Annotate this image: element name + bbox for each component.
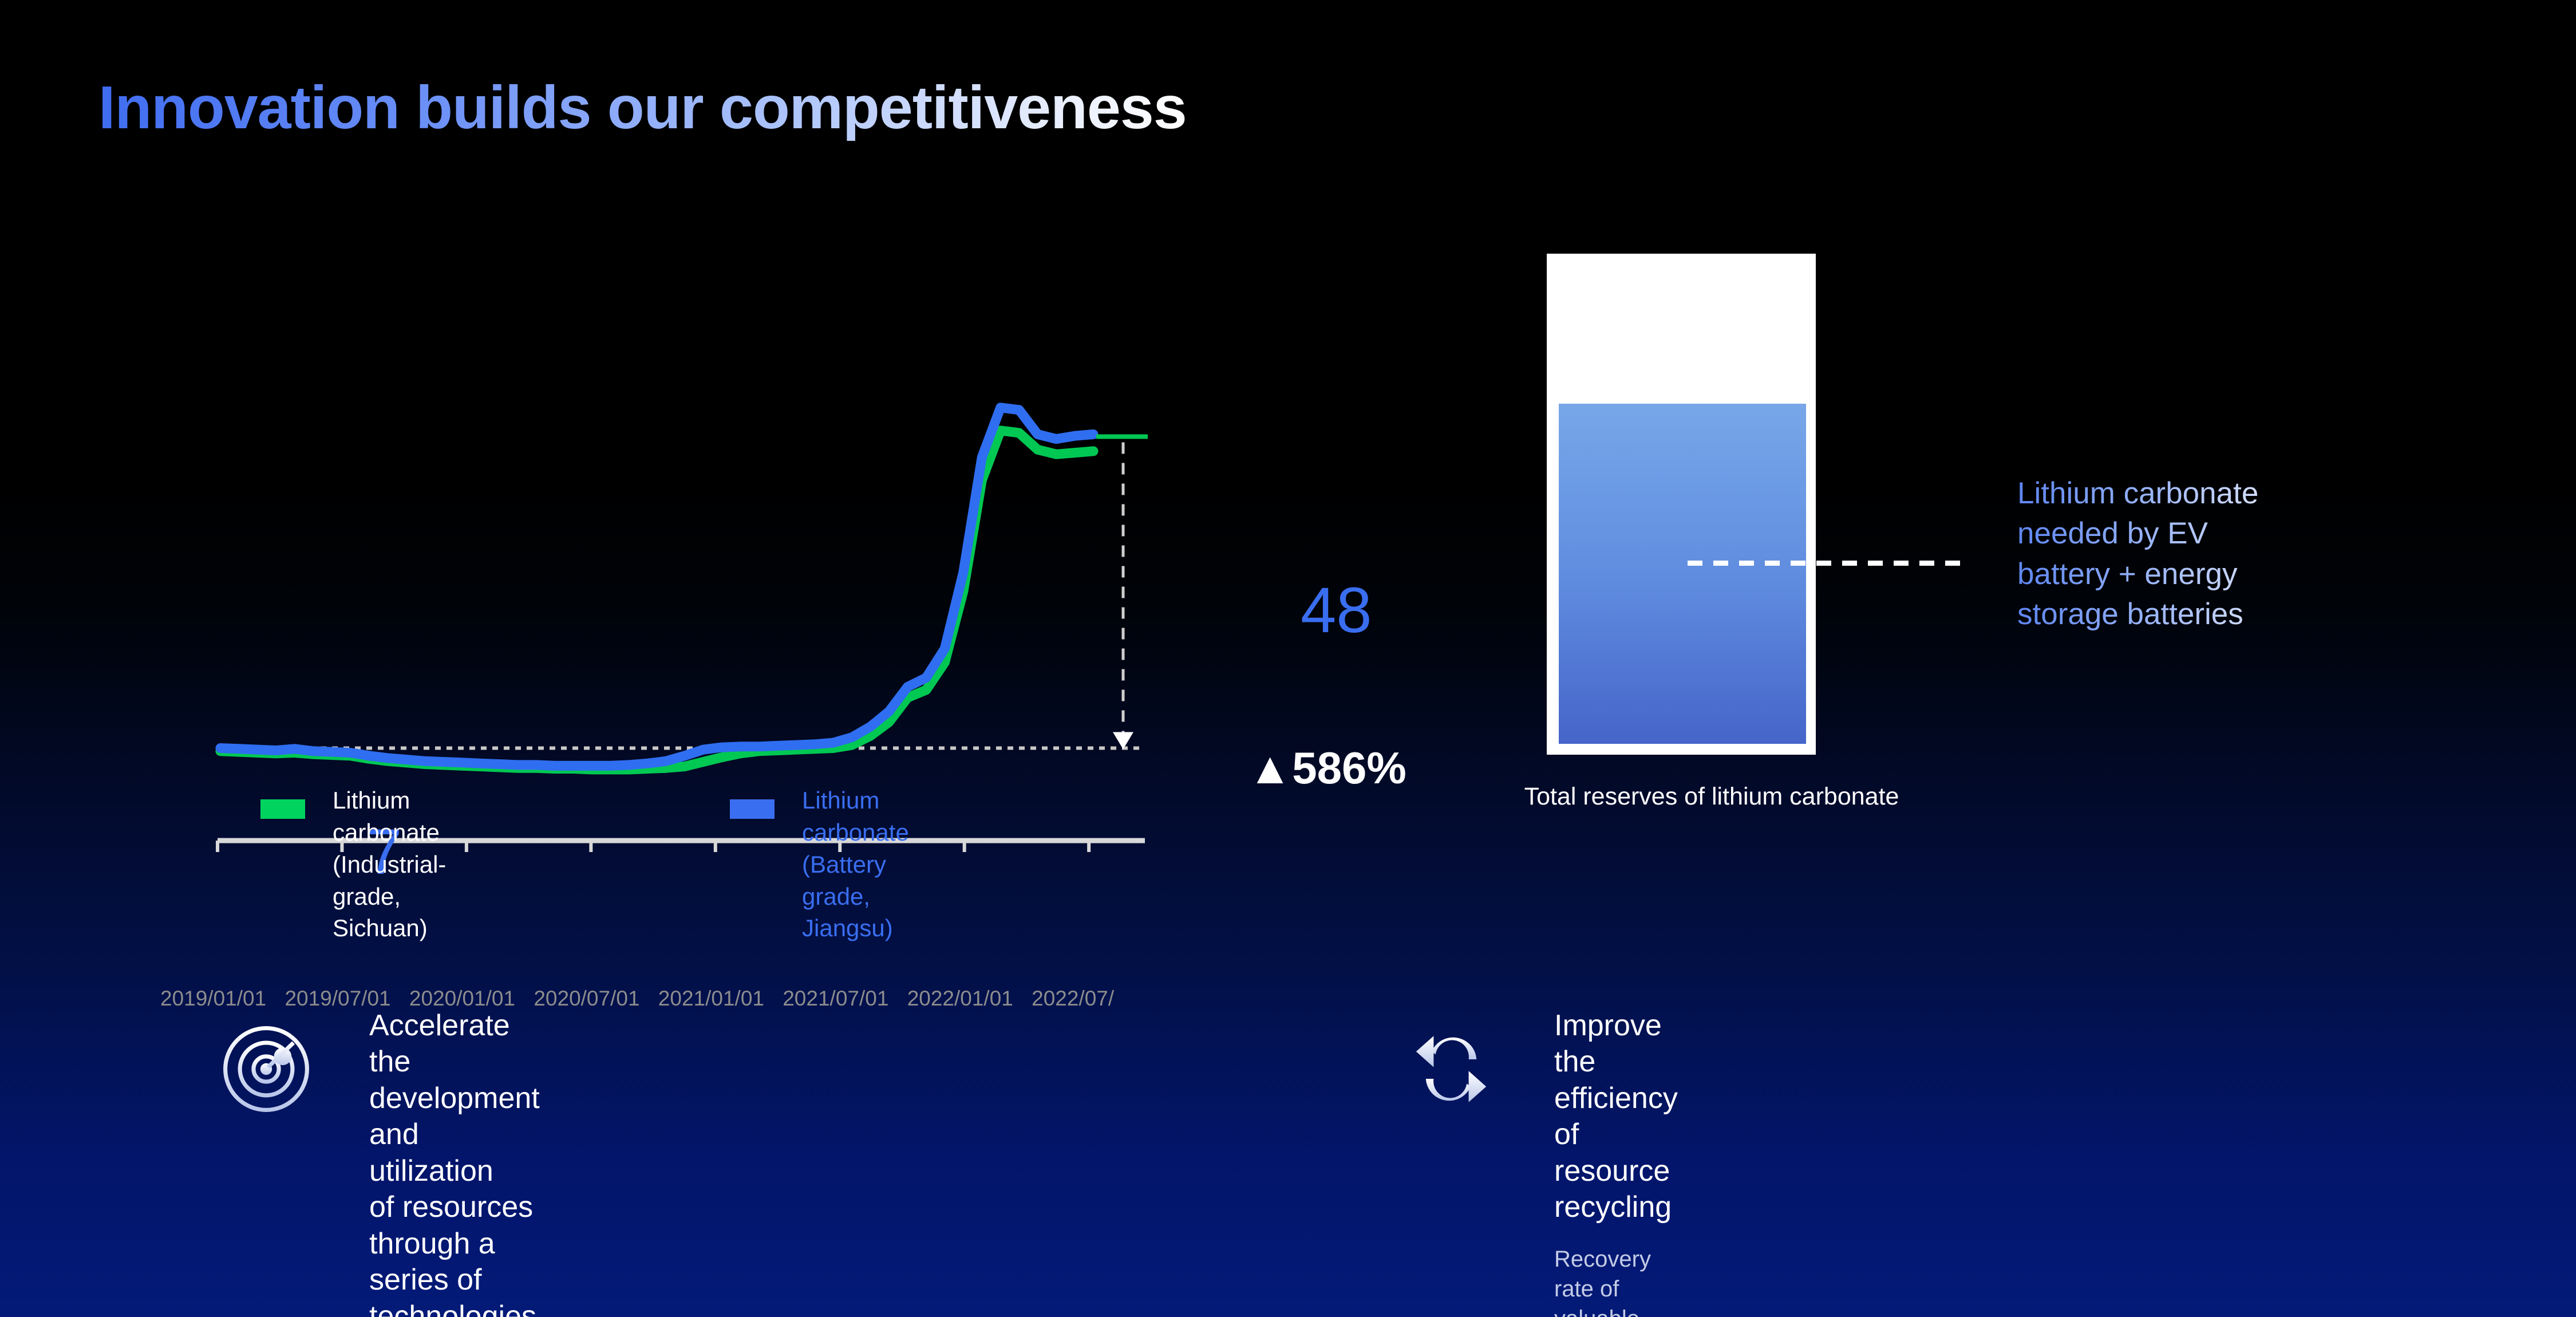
legend-color-swatch bbox=[260, 799, 305, 819]
page-title: Innovation builds our competitiveness bbox=[98, 73, 1187, 143]
delta-percent-label: ▲586% bbox=[1248, 746, 1406, 790]
legend-label: Lithium carbonate (Battery grade, Jiangs… bbox=[802, 784, 909, 944]
reserves-bar-fill bbox=[1559, 404, 1806, 744]
reserves-bar-container bbox=[1547, 254, 1816, 755]
feature-heading: Accelerate the development and utilizati… bbox=[369, 1008, 540, 1317]
x-axis-tick-label: 2022/07/ bbox=[1032, 987, 1114, 1011]
end-value-label: 48 bbox=[1301, 578, 1372, 642]
x-axis-tick-label: 2021/07/01 bbox=[783, 987, 888, 1011]
feature-text-block: Improve the efficiency of resource recyc… bbox=[1554, 1008, 1680, 1317]
feature-text-block: Accelerate the development and utilizati… bbox=[369, 1008, 540, 1317]
recycle-loop-icon bbox=[1402, 1020, 1500, 1118]
legend-color-swatch bbox=[730, 799, 775, 819]
x-axis-tick-label: 2020/01/01 bbox=[409, 987, 515, 1011]
bar-annotation-text: Lithium carbonate needed by EV battery +… bbox=[2017, 474, 2384, 635]
x-axis-tick-label: 2019/07/01 bbox=[285, 987, 390, 1011]
legend-item[interactable]: Lithium carbonate (Battery grade, Jiangs… bbox=[730, 784, 909, 944]
x-axis-tick-label: 2020/07/01 bbox=[534, 987, 639, 1011]
radar-target-icon bbox=[218, 1020, 315, 1118]
bar-annotation-leader-line bbox=[1688, 561, 1969, 566]
legend-label: Lithium carbonate (Industrial-grade, Sic… bbox=[333, 784, 446, 944]
x-axis-tick-label: 2019/01/01 bbox=[160, 987, 266, 1011]
feature-heading: Improve the efficiency of resource recyc… bbox=[1554, 1008, 1680, 1226]
x-axis-tick-label: 2021/01/01 bbox=[658, 987, 764, 1011]
reserves-bar-caption: Total reserves of lithium carbonate bbox=[1454, 783, 1969, 811]
series-line-industrial-grade bbox=[220, 431, 1093, 770]
legend-item[interactable]: Lithium carbonate (Industrial-grade, Sic… bbox=[260, 784, 446, 944]
x-axis-tick-label: 2022/01/01 bbox=[907, 987, 1013, 1011]
feature-subtext: Recovery rate of valuable metals: nickel… bbox=[1554, 1244, 1680, 1317]
slide-canvas: Innovation builds our competitiveness 48… bbox=[0, 0, 2576, 1317]
series-line-battery-grade bbox=[220, 408, 1093, 766]
